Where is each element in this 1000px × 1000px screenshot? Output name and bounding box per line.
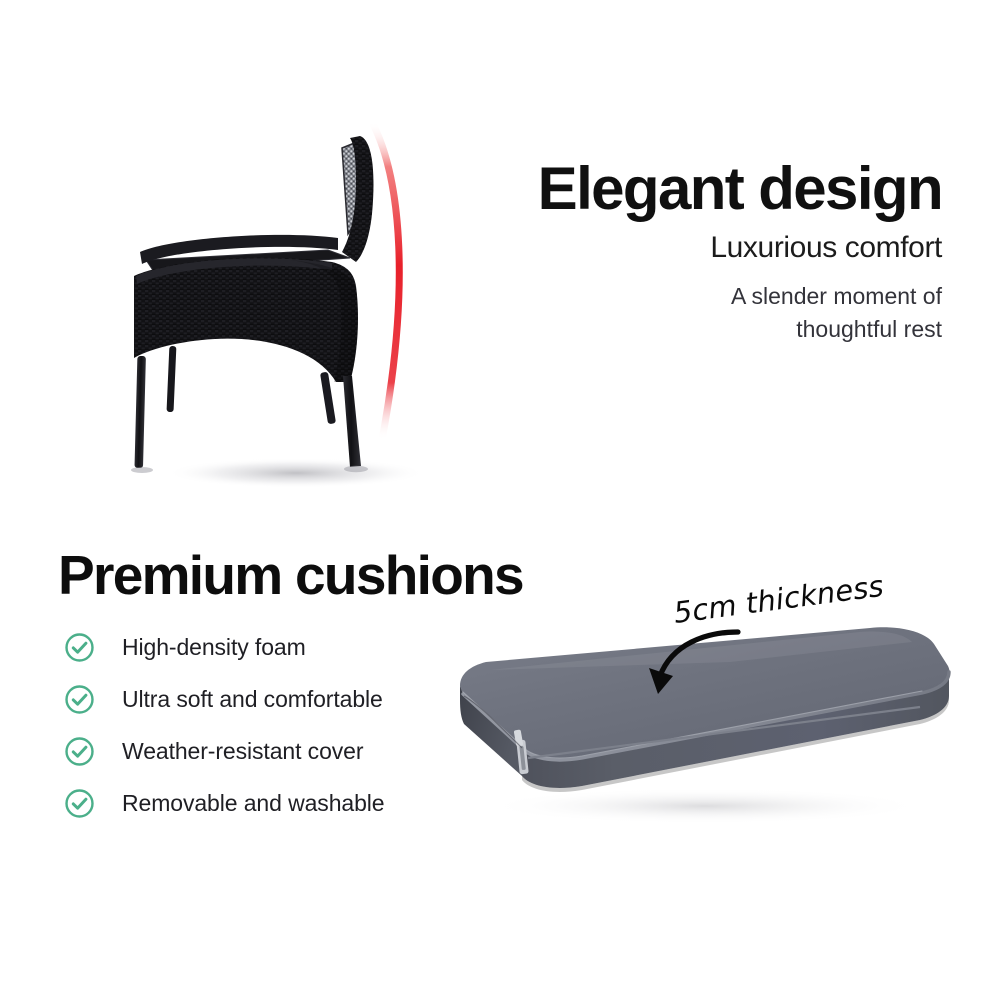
elegant-design-copy-block: Elegant design Luxurious comfort A slend… — [422, 158, 942, 346]
section-heading: Premium cushions — [58, 548, 658, 603]
chair-foot-shadow-right — [344, 466, 368, 472]
circle-check-icon — [64, 684, 95, 715]
feature-label: Ultra soft and comfortable — [122, 688, 383, 711]
cushion-floor-shadow — [485, 788, 925, 824]
subheading: Luxurious comfort — [422, 230, 942, 266]
chair-floor-shadow — [166, 458, 426, 488]
feature-label: High-density foam — [122, 636, 306, 659]
body-copy-line-2: thoughtful rest — [796, 316, 942, 342]
chair-leg-front-right — [343, 376, 361, 467]
page-title: Elegant design — [422, 158, 942, 220]
curved-arrow-icon — [620, 622, 750, 712]
chair-side-body-weave — [134, 258, 358, 382]
chair-leg-front-left — [134, 356, 145, 468]
circle-check-icon — [64, 788, 95, 819]
feature-label: Removable and washable — [122, 792, 384, 815]
circle-check-icon — [64, 632, 95, 663]
product-feature-infographic: Elegant design Luxurious comfort A slend… — [0, 0, 1000, 1000]
feature-label: Weather-resistant cover — [122, 740, 363, 763]
red-accent-curve — [372, 122, 399, 440]
body-copy: A slender moment of thoughtful rest — [422, 280, 942, 345]
circle-check-icon — [64, 736, 95, 767]
chair-product-image — [110, 110, 470, 500]
body-copy-line-1: A slender moment of — [731, 283, 942, 309]
black-wicker-armchair-illustration — [110, 110, 470, 500]
chair-foot-shadow-left — [131, 467, 153, 473]
